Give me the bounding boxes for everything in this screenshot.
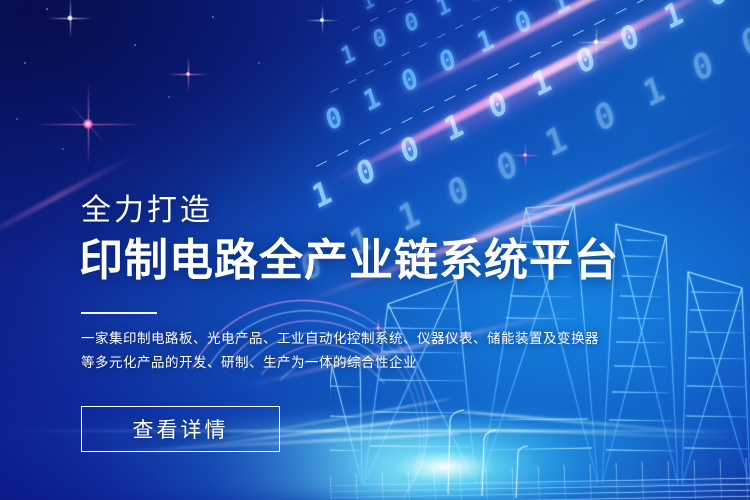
hero-kicker: 全力打造 <box>81 196 213 226</box>
hero-banner: 1 0 0 1 0 1 0 0 1 0 1 1 0 0 1 0 1 0 0 1 … <box>0 0 750 500</box>
hero-divider <box>81 312 157 314</box>
hero-subtitle: 一家集印制电路板、光电产品、工业自动化控制系统、仪器仪表、储能装置及变换器 等多… <box>81 327 581 375</box>
hero-content: 全力打造 印制电路全产业链系统平台 一家集印制电路板、光电产品、工业自动化控制系… <box>81 0 641 500</box>
hero-subtitle-line-2: 等多元化产品的开发、研制、生产为一体的综合性企业 <box>81 351 581 375</box>
hero-headline: 印制电路全产业链系统平台 <box>79 238 619 285</box>
hero-subtitle-line-1: 一家集印制电路板、光电产品、工业自动化控制系统、仪器仪表、储能装置及变换器 <box>81 327 581 351</box>
view-details-button[interactable]: 查看详情 <box>81 406 280 452</box>
